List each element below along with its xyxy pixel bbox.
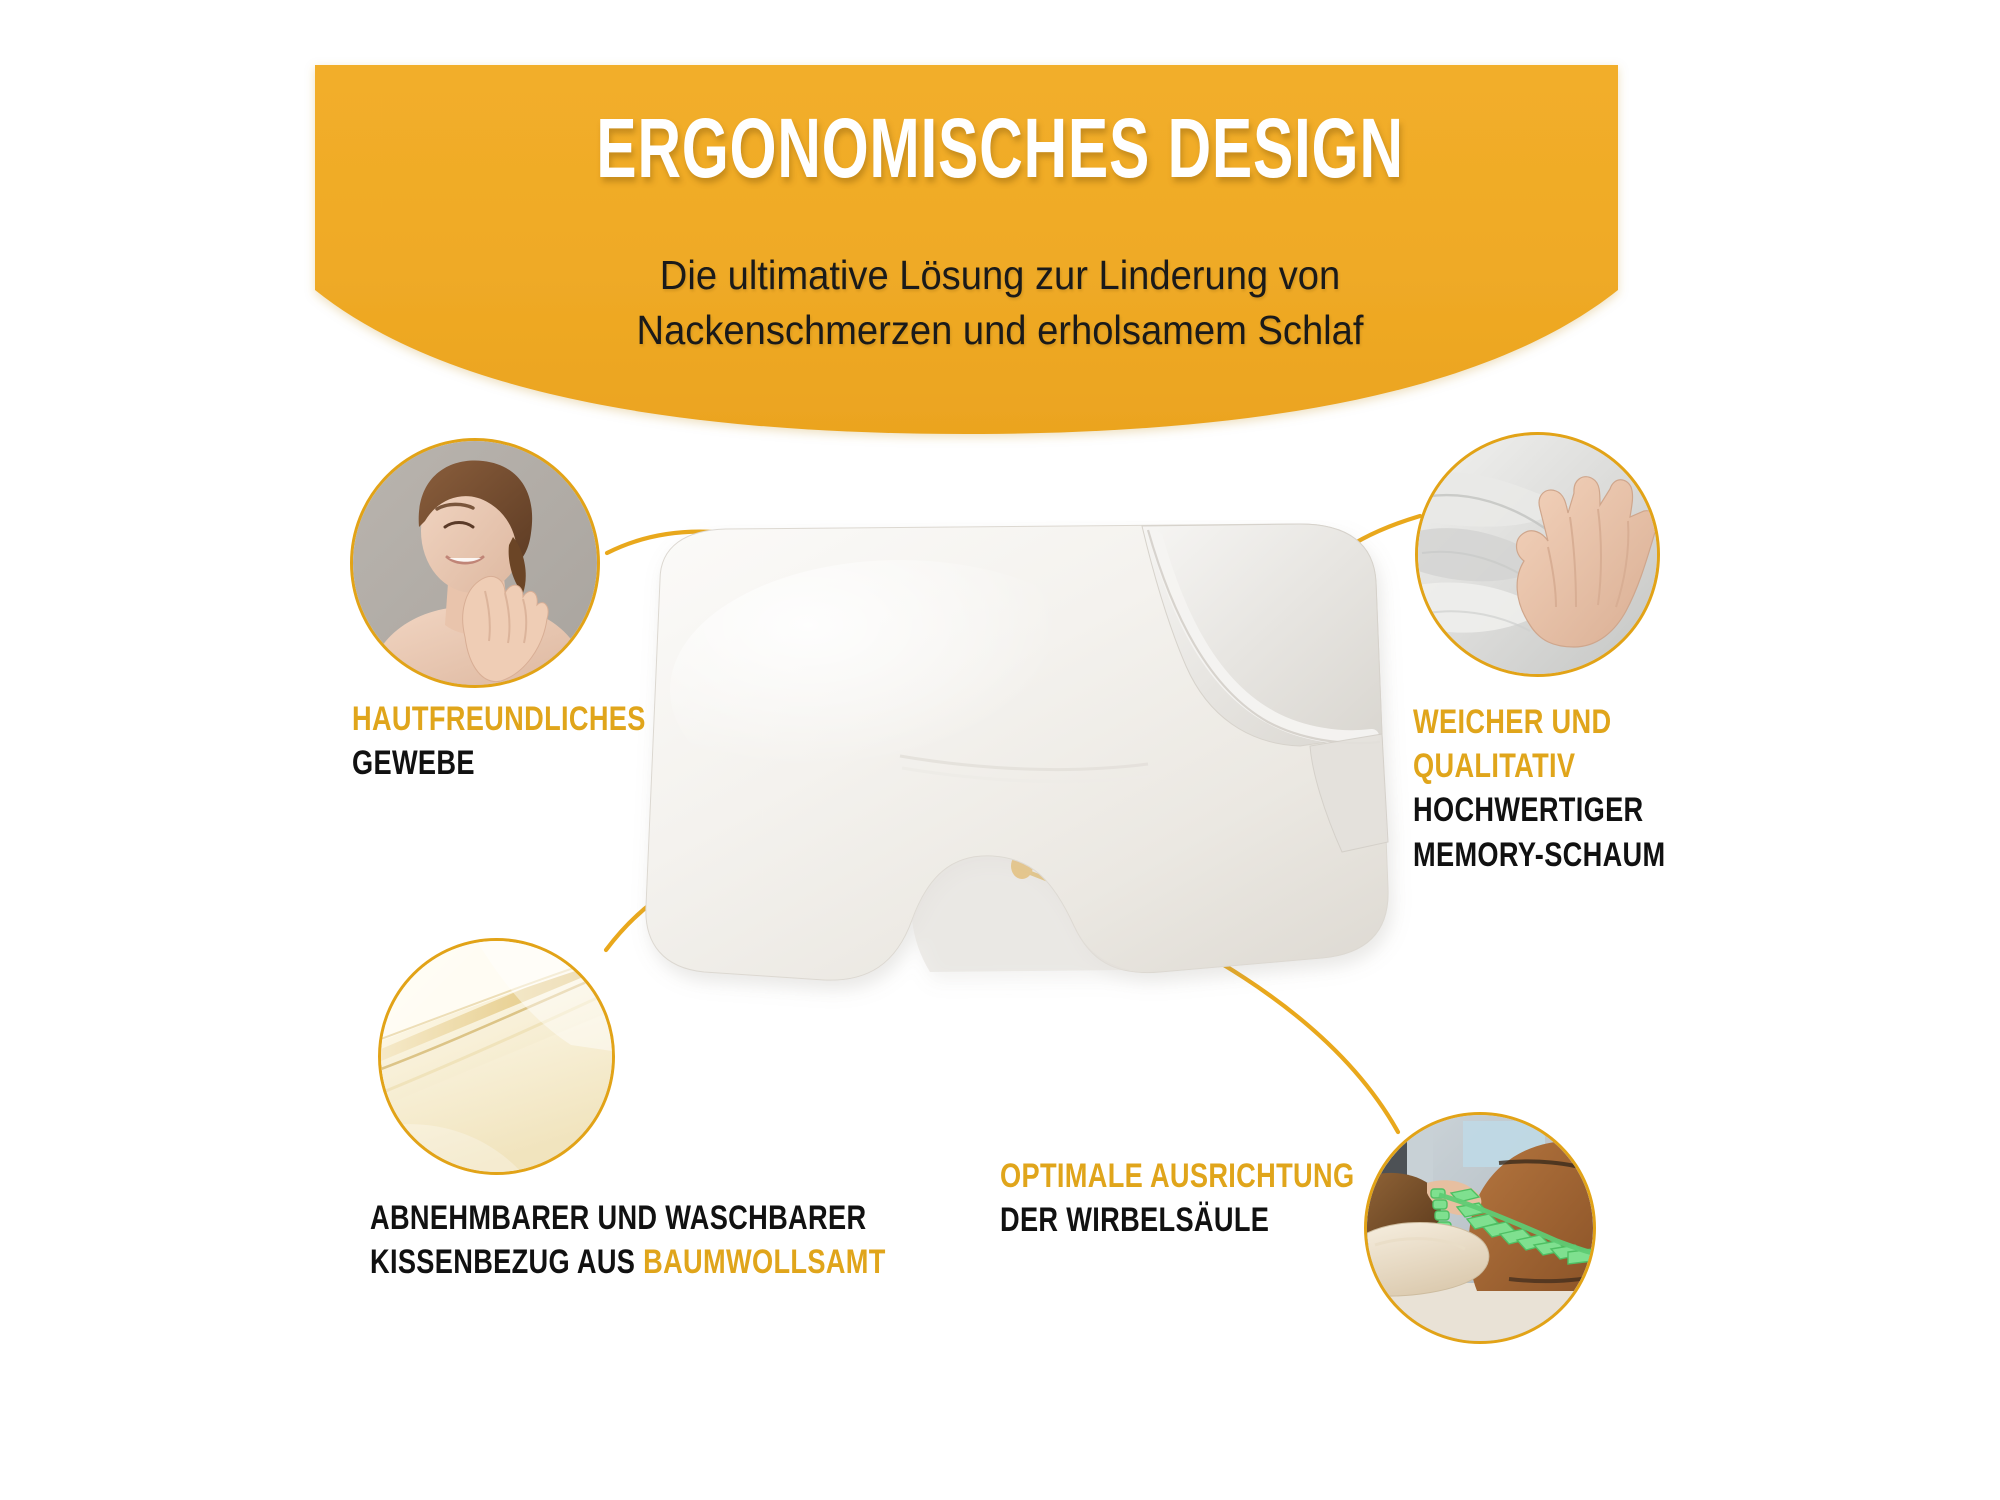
label-line-4: MEMORY-SCHAUM bbox=[1413, 833, 1665, 877]
feature-label-memory-foam: WEICHER UND QUALITATIV HOCHWERTIGER MEMO… bbox=[1413, 700, 1665, 877]
feature-label-washable-cover: ABNEHMBARER UND WASCHBARER KISSENBEZUG A… bbox=[370, 1196, 886, 1284]
feature-image-washable-cover bbox=[378, 938, 615, 1175]
subtitle-line-1: Die ultimative Lösung zur Linderung von bbox=[70, 248, 1930, 303]
label-line-1: ABNEHMBARER UND WASCHBARER bbox=[370, 1196, 886, 1240]
feature-image-skin-friendly-fabric bbox=[350, 438, 600, 688]
spine-illustration bbox=[1367, 1115, 1593, 1341]
spine-alignment-sleeping-photo bbox=[1367, 1115, 1593, 1341]
velvet-fabric-illustration bbox=[381, 941, 612, 1172]
infographic-canvas: ERGONOMISCHES DESIGN Die ultimative Lösu… bbox=[0, 0, 2000, 1500]
label-line-2-highlight: BAUMWOLLSAMT bbox=[643, 1243, 886, 1281]
feature-image-memory-foam bbox=[1415, 432, 1660, 677]
label-line-2: QUALITATIV bbox=[1413, 744, 1665, 788]
feature-image-spine-alignment bbox=[1364, 1112, 1596, 1344]
page-title: ERGONOMISCHES DESIGN bbox=[280, 106, 1720, 190]
cotton-velvet-fabric-photo bbox=[381, 941, 612, 1172]
woman-touching-neck-photo bbox=[353, 441, 597, 685]
label-line-3: HOCHWERTIGER bbox=[1413, 788, 1665, 832]
woman-photo-illustration bbox=[353, 441, 597, 685]
hand-pressing-memory-foam-photo bbox=[1418, 435, 1657, 674]
label-line-2: DER WIRBELSÄULE bbox=[1000, 1198, 1354, 1242]
foam-hand-illustration bbox=[1418, 435, 1657, 674]
header-banner: ERGONOMISCHES DESIGN Die ultimative Lösu… bbox=[0, 0, 2000, 460]
subtitle-line-2: Nackenschmerzen und erholsamem Schlaf bbox=[70, 303, 1930, 358]
label-line-1: WEICHER UND bbox=[1413, 700, 1665, 744]
label-line-2-prefix: KISSENBEZUG AUS bbox=[370, 1243, 643, 1281]
page-subtitle: Die ultimative Lösung zur Linderung von … bbox=[70, 248, 1930, 357]
label-line-1: HAUTFREUNDLICHES bbox=[352, 697, 646, 741]
feature-label-skin-friendly-fabric: HAUTFREUNDLICHES GEWEBE bbox=[352, 697, 646, 785]
banner-shape bbox=[0, 0, 2000, 470]
label-line-2: KISSENBEZUG AUS BAUMWOLLSAMT bbox=[370, 1240, 886, 1284]
label-line-2: GEWEBE bbox=[352, 741, 646, 785]
product-pillow-image bbox=[600, 520, 1420, 1060]
label-line-1: OPTIMALE AUSRICHTUNG bbox=[1000, 1154, 1354, 1198]
pillow-illustration bbox=[600, 520, 1420, 1060]
feature-label-spine-alignment: OPTIMALE AUSRICHTUNG DER WIRBELSÄULE bbox=[1000, 1154, 1354, 1242]
